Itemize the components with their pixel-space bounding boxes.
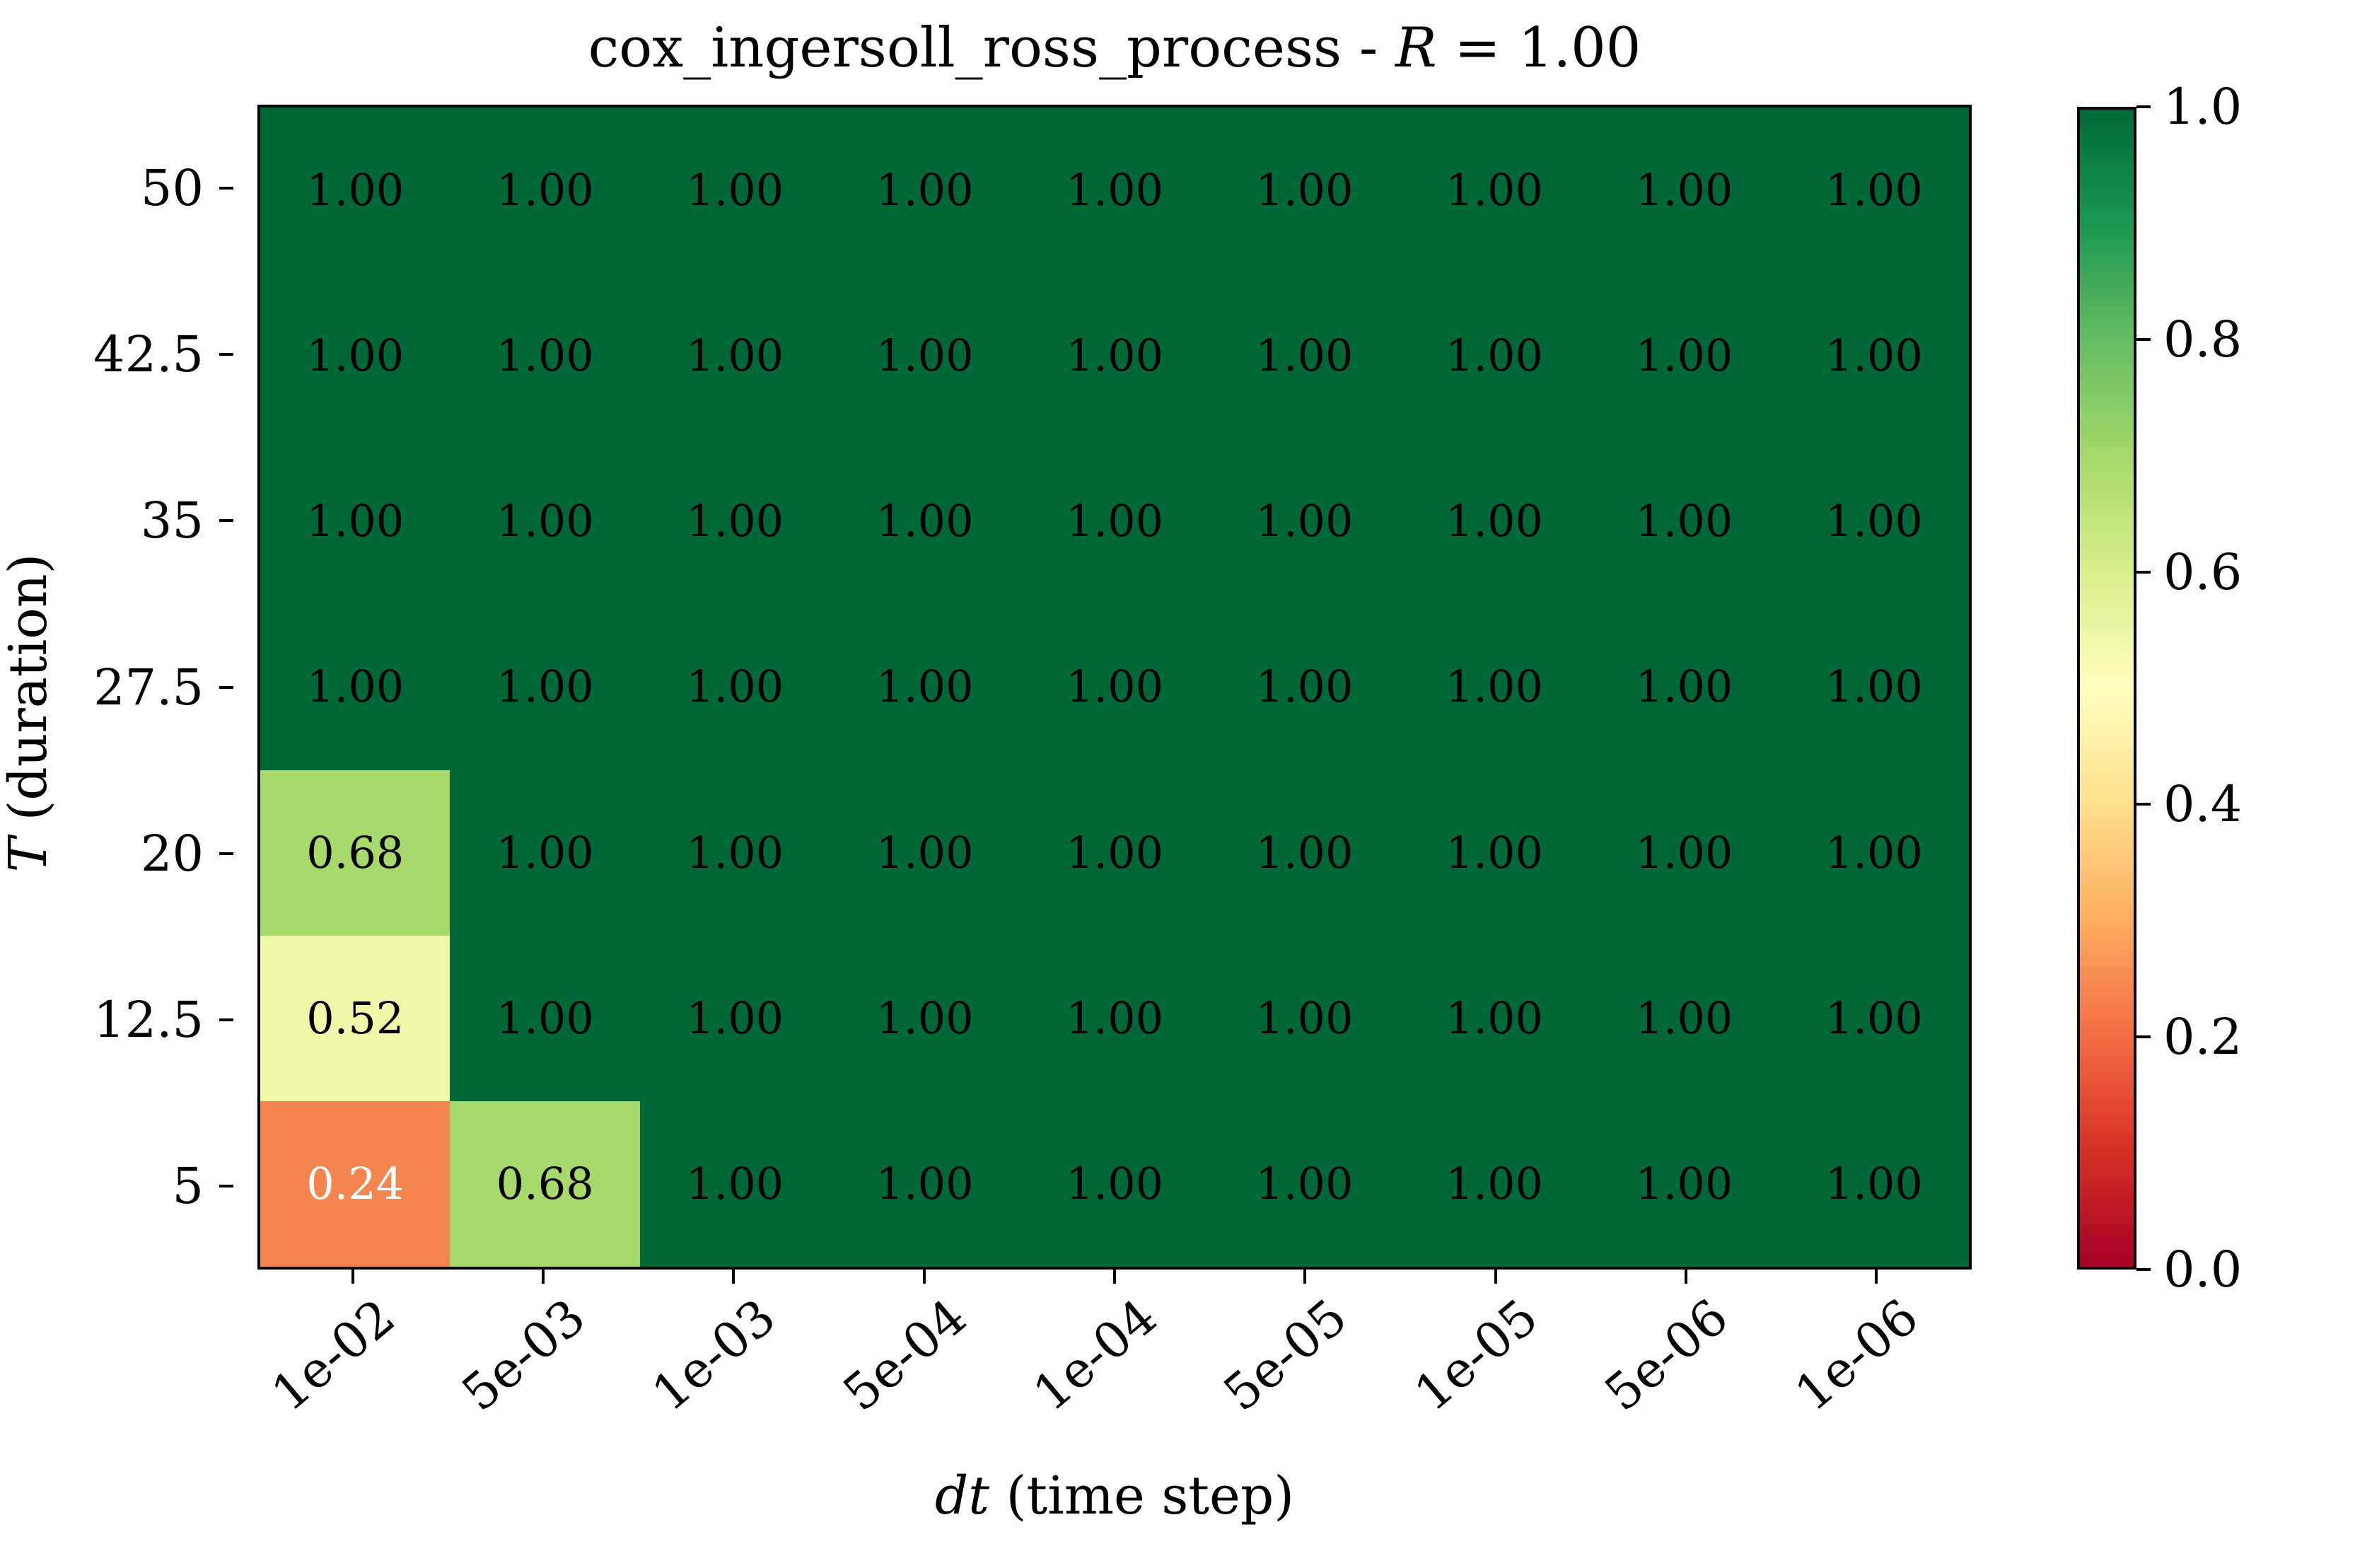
heatmap-cell-value: 1.00 [686, 1162, 784, 1206]
heatmap-cell: 0.68 [450, 1101, 639, 1267]
y-axis-tick-label: 50 [141, 163, 204, 213]
heatmap-cell-value: 1.00 [1066, 499, 1163, 543]
heatmap-cell: 1.00 [1400, 439, 1589, 604]
chart-title: cox_ingersoll_ross_process - R = 1.00 [257, 16, 1972, 81]
heatmap-cell: 1.00 [830, 273, 1019, 439]
y-axis-tick-label: 20 [141, 829, 204, 878]
heatmap-cell-value: 1.00 [1635, 1162, 1733, 1206]
heatmap-cell-value: 0.24 [306, 1162, 404, 1206]
heatmap-cell-value: 1.00 [1255, 499, 1353, 543]
heatmap-cell-value: 1.00 [876, 499, 974, 543]
heatmap-cell: 1.00 [1400, 108, 1589, 273]
colorbar-tick-mark [2136, 803, 2151, 806]
heatmap-cell-value: 1.00 [1825, 168, 1923, 212]
colorbar-tick-mark [2136, 338, 2151, 341]
heatmap-cell: 1.00 [260, 604, 450, 770]
heatmap-cell: 1.00 [1209, 936, 1399, 1101]
x-axis-tick-mark [1875, 1270, 1878, 1284]
heatmap-grid: 1.001.001.001.001.001.001.001.001.001.00… [260, 108, 1969, 1267]
heatmap-cell-value: 1.00 [1635, 665, 1733, 709]
heatmap-cell-value: 1.00 [876, 1162, 974, 1206]
heatmap-cell-value: 0.68 [496, 1162, 594, 1206]
heatmap-cell-value: 1.00 [1825, 1162, 1923, 1206]
x-axis-tick-mark [542, 1270, 545, 1284]
heatmap-cell-value: 1.00 [306, 168, 404, 212]
heatmap-cell-value: 1.00 [1446, 168, 1543, 212]
heatmap-cell: 1.00 [450, 108, 639, 273]
heatmap-cell-value: 1.00 [496, 334, 594, 378]
colorbar-title: Accuracy [2350, 219, 2355, 1209]
x-axis-tick-mark [1494, 1270, 1497, 1284]
heatmap-cell: 1.00 [1209, 108, 1399, 273]
chart-title-r-symbol: R [1395, 16, 1437, 80]
heatmap-cell: 1.00 [1589, 770, 1779, 936]
y-axis-tick-label: 27.5 [93, 663, 204, 712]
heatmap-cell: 1.00 [640, 604, 830, 770]
heatmap-cell: 1.00 [1589, 936, 1779, 1101]
x-axis-tick-label: 1e-02 [262, 1289, 404, 1421]
heatmap-cell-value: 1.00 [686, 997, 784, 1040]
heatmap-cell-value: 1.00 [1066, 1162, 1163, 1206]
heatmap-cell-value: 1.00 [1255, 997, 1353, 1040]
heatmap-cell: 1.00 [640, 1101, 830, 1267]
heatmap-cell: 1.00 [830, 770, 1019, 936]
x-axis-tick-mark [351, 1270, 354, 1284]
colorbar-tick-label: 1.0 [2163, 82, 2242, 132]
heatmap-cell-value: 1.00 [1825, 831, 1923, 875]
colorbar-tick-label: 0.0 [2163, 1245, 2242, 1294]
heatmap-cell-value: 1.00 [1635, 997, 1733, 1040]
heatmap-cell-value: 1.00 [1825, 334, 1923, 378]
x-axis-tick-label: 5e-04 [833, 1289, 975, 1421]
heatmap-cell-value: 1.00 [1825, 665, 1923, 709]
y-axis-ticks: 5042.53527.52012.55 [0, 105, 233, 1270]
heatmap-cell-value: 1.00 [876, 997, 974, 1040]
heatmap-cell-value: 1.00 [1255, 168, 1353, 212]
heatmap-cell: 1.00 [640, 273, 830, 439]
x-axis-tick-label: 1e-05 [1405, 1289, 1547, 1421]
x-axis-tick-label: 5e-03 [453, 1289, 595, 1421]
heatmap-cell: 1.00 [1779, 1101, 1969, 1267]
y-axis-tick-mark [219, 686, 233, 689]
heatmap-plot-area: 1.001.001.001.001.001.001.001.001.001.00… [257, 105, 1972, 1270]
heatmap-cell: 1.00 [260, 439, 450, 604]
heatmap-cell-value: 0.68 [306, 831, 404, 875]
colorbar-tick-mark [2136, 1035, 2151, 1038]
heatmap-cell: 1.00 [450, 936, 639, 1101]
x-axis-tick-label: 5e-05 [1214, 1289, 1356, 1421]
heatmap-cell: 1.00 [830, 604, 1019, 770]
heatmap-cell-value: 1.00 [496, 499, 594, 543]
heatmap-cell-value: 1.00 [686, 665, 784, 709]
heatmap-cell: 1.00 [1400, 273, 1589, 439]
x-axis-tick-mark [1303, 1270, 1306, 1284]
heatmap-cell: 1.00 [1779, 108, 1969, 273]
heatmap-cell: 1.00 [1779, 770, 1969, 936]
heatmap-cell: 1.00 [830, 439, 1019, 604]
chart-title-separator: - [1342, 16, 1395, 80]
heatmap-cell: 1.00 [260, 108, 450, 273]
y-axis-tick-mark [219, 1018, 233, 1021]
heatmap-cell-value: 1.00 [876, 334, 974, 378]
heatmap-cell-value: 1.00 [1066, 334, 1163, 378]
y-axis-tick-label: 5 [172, 1161, 204, 1211]
heatmap-cell: 1.00 [1400, 770, 1589, 936]
colorbar-tick-label: 0.4 [2163, 779, 2242, 829]
heatmap-cell: 1.00 [1589, 439, 1779, 604]
heatmap-cell: 1.00 [1020, 604, 1209, 770]
heatmap-cell-value: 1.00 [496, 665, 594, 709]
x-axis-rest: (time step) [989, 1465, 1294, 1526]
heatmap-cell-value: 1.00 [496, 831, 594, 875]
heatmap-cell-value: 0.52 [306, 997, 404, 1040]
y-axis-tick-label: 12.5 [93, 995, 204, 1045]
heatmap-cell-value: 1.00 [1066, 997, 1163, 1040]
heatmap-cell-value: 1.00 [306, 665, 404, 709]
heatmap-cell: 1.00 [1020, 1101, 1209, 1267]
x-axis-tick-mark [1685, 1270, 1687, 1284]
heatmap-cell-value: 1.00 [1255, 334, 1353, 378]
heatmap-cell-value: 1.00 [1635, 831, 1733, 875]
chart-title-process: cox_ingersoll_ross_process [588, 16, 1342, 80]
y-axis-tick-mark [219, 187, 233, 190]
heatmap-cell-value: 1.00 [1446, 997, 1543, 1040]
colorbar-tick-mark [2136, 105, 2151, 108]
heatmap-cell: 1.00 [1779, 604, 1969, 770]
heatmap-cell-value: 1.00 [1066, 831, 1163, 875]
heatmap-cell: 1.00 [1400, 604, 1589, 770]
heatmap-cell-value: 1.00 [496, 997, 594, 1040]
x-axis-tick-label: 1e-04 [1024, 1289, 1166, 1421]
heatmap-cell: 1.00 [260, 273, 450, 439]
heatmap-cell: 1.00 [640, 770, 830, 936]
colorbar-tick-mark [2136, 1268, 2151, 1271]
y-axis-tick-label: 42.5 [93, 330, 204, 379]
heatmap-cell-value: 1.00 [1635, 334, 1733, 378]
heatmap-cell-value: 1.00 [306, 334, 404, 378]
heatmap-cell: 0.24 [260, 1101, 450, 1267]
heatmap-cell-value: 1.00 [1825, 997, 1923, 1040]
x-axis-symbol: dt [935, 1465, 989, 1526]
x-axis-tick-label: 5e-06 [1595, 1289, 1738, 1421]
heatmap-cell: 1.00 [1400, 936, 1589, 1101]
heatmap-cell: 1.00 [1020, 273, 1209, 439]
heatmap-cell: 1.00 [1589, 273, 1779, 439]
heatmap-cell-value: 1.00 [496, 168, 594, 212]
heatmap-cell: 1.00 [1209, 1101, 1399, 1267]
y-axis-tick-mark [219, 852, 233, 855]
heatmap-cell: 1.00 [1209, 604, 1399, 770]
heatmap-cell: 1.00 [1020, 936, 1209, 1101]
heatmap-cell: 1.00 [1209, 770, 1399, 936]
heatmap-cell: 1.00 [640, 108, 830, 273]
x-axis-tick-label: 1e-06 [1786, 1289, 1928, 1421]
heatmap-figure: cox_ingersoll_ross_process - R = 1.00 T … [0, 0, 2355, 1568]
heatmap-cell: 0.68 [260, 770, 450, 936]
heatmap-cell: 1.00 [450, 604, 639, 770]
heatmap-cell-value: 1.00 [686, 168, 784, 212]
x-axis-tick-mark [1113, 1270, 1116, 1284]
x-axis-tick-marks [257, 1270, 1972, 1285]
colorbar-tick-mark [2136, 571, 2151, 574]
y-axis-tick-mark [219, 1185, 233, 1187]
heatmap-cell-value: 1.00 [1066, 665, 1163, 709]
heatmap-cell: 1.00 [1020, 108, 1209, 273]
heatmap-cell: 1.00 [640, 936, 830, 1101]
heatmap-cell-value: 1.00 [1255, 665, 1353, 709]
heatmap-cell: 1.00 [1020, 439, 1209, 604]
heatmap-cell: 1.00 [640, 439, 830, 604]
heatmap-cell-value: 1.00 [1255, 1162, 1353, 1206]
heatmap-cell: 1.00 [1020, 770, 1209, 936]
x-axis-tick-mark [732, 1270, 735, 1284]
heatmap-cell: 1.00 [830, 936, 1019, 1101]
heatmap-cell-value: 1.00 [686, 499, 784, 543]
heatmap-cell-value: 1.00 [1635, 499, 1733, 543]
heatmap-cell-value: 1.00 [1446, 665, 1543, 709]
colorbar-ticks: 1.00.80.60.40.20.0 [2077, 107, 2318, 1270]
heatmap-cell-value: 1.00 [306, 499, 404, 543]
heatmap-cell: 1.00 [1589, 108, 1779, 273]
heatmap-cell: 1.00 [1209, 439, 1399, 604]
heatmap-cell: 0.52 [260, 936, 450, 1101]
heatmap-cell-value: 1.00 [1255, 831, 1353, 875]
heatmap-cell-value: 1.00 [686, 831, 784, 875]
heatmap-cell: 1.00 [1779, 936, 1969, 1101]
heatmap-cell-value: 1.00 [1446, 831, 1543, 875]
y-axis-tick-label: 35 [141, 496, 204, 545]
y-axis-tick-mark [219, 353, 233, 356]
x-axis-title: dt (time step) [257, 1465, 1972, 1526]
x-axis-tick-label: 1e-03 [643, 1289, 785, 1421]
heatmap-cell: 1.00 [450, 273, 639, 439]
heatmap-cell: 1.00 [450, 770, 639, 936]
heatmap-cell: 1.00 [450, 439, 639, 604]
colorbar-tick-label: 0.2 [2163, 1012, 2242, 1062]
x-axis-tick-mark [923, 1270, 926, 1284]
chart-title-r-value: = 1.00 [1437, 16, 1641, 80]
heatmap-cell: 1.00 [1779, 439, 1969, 604]
colorbar-tick-label: 0.6 [2163, 547, 2242, 597]
heatmap-cell-value: 1.00 [1635, 168, 1733, 212]
heatmap-cell: 1.00 [1589, 1101, 1779, 1267]
heatmap-cell-value: 1.00 [1446, 334, 1543, 378]
heatmap-cell: 1.00 [830, 108, 1019, 273]
heatmap-cell: 1.00 [1400, 1101, 1589, 1267]
heatmap-cell-value: 1.00 [876, 831, 974, 875]
heatmap-cell: 1.00 [1589, 604, 1779, 770]
heatmap-cell-value: 1.00 [876, 665, 974, 709]
heatmap-cell-value: 1.00 [686, 334, 784, 378]
heatmap-cell: 1.00 [830, 1101, 1019, 1267]
x-axis-ticks: 1e-025e-031e-035e-041e-045e-051e-055e-06… [257, 1289, 1972, 1466]
colorbar-tick-label: 0.8 [2163, 315, 2242, 364]
heatmap-cell: 1.00 [1779, 273, 1969, 439]
heatmap-cell-value: 1.00 [1446, 499, 1543, 543]
heatmap-cell-value: 1.00 [876, 168, 974, 212]
y-axis-tick-mark [219, 519, 233, 522]
heatmap-cell-value: 1.00 [1066, 168, 1163, 212]
heatmap-cell-value: 1.00 [1825, 499, 1923, 543]
heatmap-cell-value: 1.00 [1446, 1162, 1543, 1206]
heatmap-cell: 1.00 [1209, 273, 1399, 439]
